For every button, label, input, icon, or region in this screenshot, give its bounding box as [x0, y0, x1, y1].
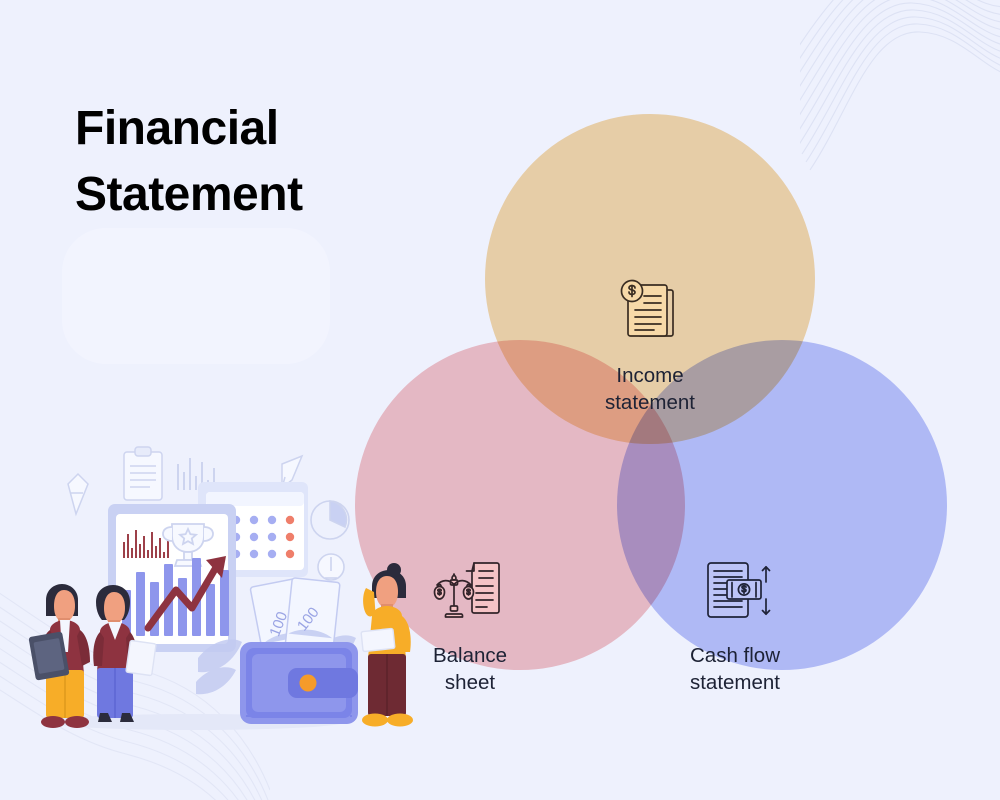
- document-banknote-arrows-icon: [695, 554, 775, 628]
- pencil-icon: [68, 474, 88, 514]
- scale-moneybags-document-icon: [429, 554, 511, 628]
- label-line-1: Balance: [365, 642, 575, 669]
- wallet-with-banknotes: [240, 642, 358, 724]
- label-line-2: statement: [545, 389, 755, 416]
- venn-node-balance-sheet: Balance sheet: [365, 550, 575, 697]
- balance-sheet-icon-wrap: [365, 550, 575, 628]
- pie-chart-icon: [311, 501, 349, 539]
- lightbulb-icon: [318, 554, 344, 583]
- venn-node-income-statement: Income statement: [545, 270, 755, 417]
- income-statement-icon-wrap: [545, 270, 755, 348]
- title-background-blob: [62, 228, 330, 364]
- person-man-with-laptop: [28, 584, 90, 728]
- label-line-1: Income: [545, 362, 755, 389]
- label-line-2: sheet: [365, 669, 575, 696]
- clipboard-icon: [124, 447, 162, 500]
- venn-label-income-statement: Income statement: [545, 362, 755, 417]
- document-stack-dollar-icon: [613, 274, 687, 348]
- venn-diagram: Income statement: [345, 100, 985, 760]
- wallet-clasp-icon: [300, 675, 317, 692]
- label-line-1: Cash flow: [630, 642, 840, 669]
- venn-node-cash-flow-statement: Cash flow statement: [630, 550, 840, 697]
- label-line-2: statement: [630, 669, 840, 696]
- infographic-page: Financial Statement: [0, 0, 1000, 800]
- cash-flow-icon-wrap: [630, 550, 840, 628]
- venn-label-balance-sheet: Balance sheet: [365, 642, 575, 697]
- venn-label-cash-flow-statement: Cash flow statement: [630, 642, 840, 697]
